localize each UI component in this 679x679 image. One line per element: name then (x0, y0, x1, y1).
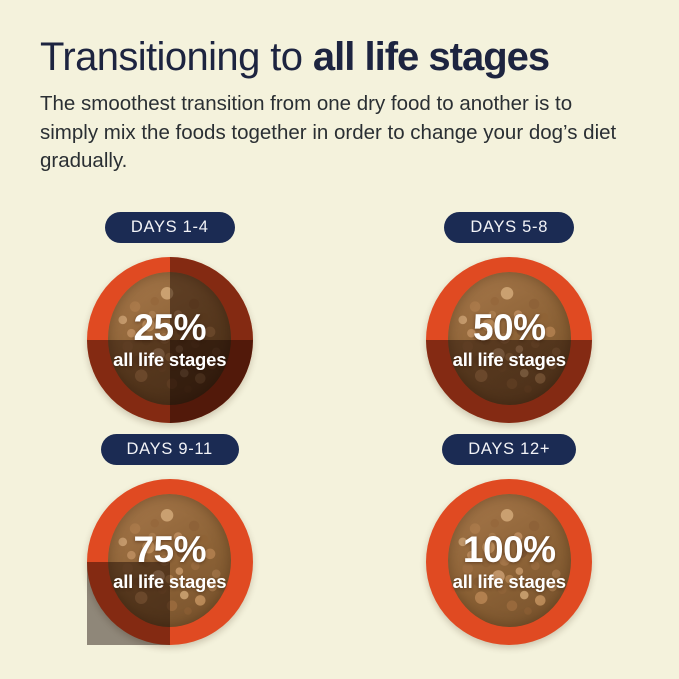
stage-card-2: DAYS 5-8 50% all life stages (340, 212, 679, 423)
stages-grid: DAYS 1-4 25% all life stages DAYS 5-8 (0, 212, 679, 645)
page-title: Transitioning to all life stages (40, 34, 652, 80)
stage-card-3: DAYS 9-11 75% all life stages (0, 434, 340, 645)
page-title-regular: Transitioning to (40, 35, 313, 79)
bowl-graphic-1 (87, 257, 253, 423)
kibble-fill-1 (108, 272, 231, 405)
stage-bowl-2: 50% all life stages (426, 257, 592, 423)
stage-badge-1: DAYS 1-4 (105, 212, 235, 243)
stage-badge-4: DAYS 12+ (442, 434, 576, 465)
kibble-fill-2 (448, 272, 571, 405)
infographic-page: Transitioning to all life stages The smo… (0, 0, 679, 679)
page-subtitle: The smoothest transition from one dry fo… (40, 90, 630, 176)
bowl-graphic-4 (426, 479, 592, 645)
kibble-fill-4 (448, 494, 571, 627)
stage-card-1: DAYS 1-4 25% all life stages (0, 212, 340, 423)
stage-bowl-1: 25% all life stages (87, 257, 253, 423)
bowl-graphic-2 (426, 257, 592, 423)
stages-row-2: DAYS 9-11 75% all life stages DAYS 12+ (0, 434, 679, 645)
bowl-graphic-3 (87, 479, 253, 645)
stage-bowl-4: 100% all life stages (426, 479, 592, 645)
stages-row-1: DAYS 1-4 25% all life stages DAYS 5-8 (0, 212, 679, 423)
stage-card-4: DAYS 12+ 100% all life stages (340, 434, 679, 645)
stage-badge-3: DAYS 9-11 (101, 434, 239, 465)
header: Transitioning to all life stages The smo… (40, 34, 652, 176)
page-title-strong: all life stages (313, 35, 549, 79)
stage-bowl-3: 75% all life stages (87, 479, 253, 645)
kibble-fill-3 (108, 494, 231, 627)
stage-badge-2: DAYS 5-8 (444, 212, 574, 243)
